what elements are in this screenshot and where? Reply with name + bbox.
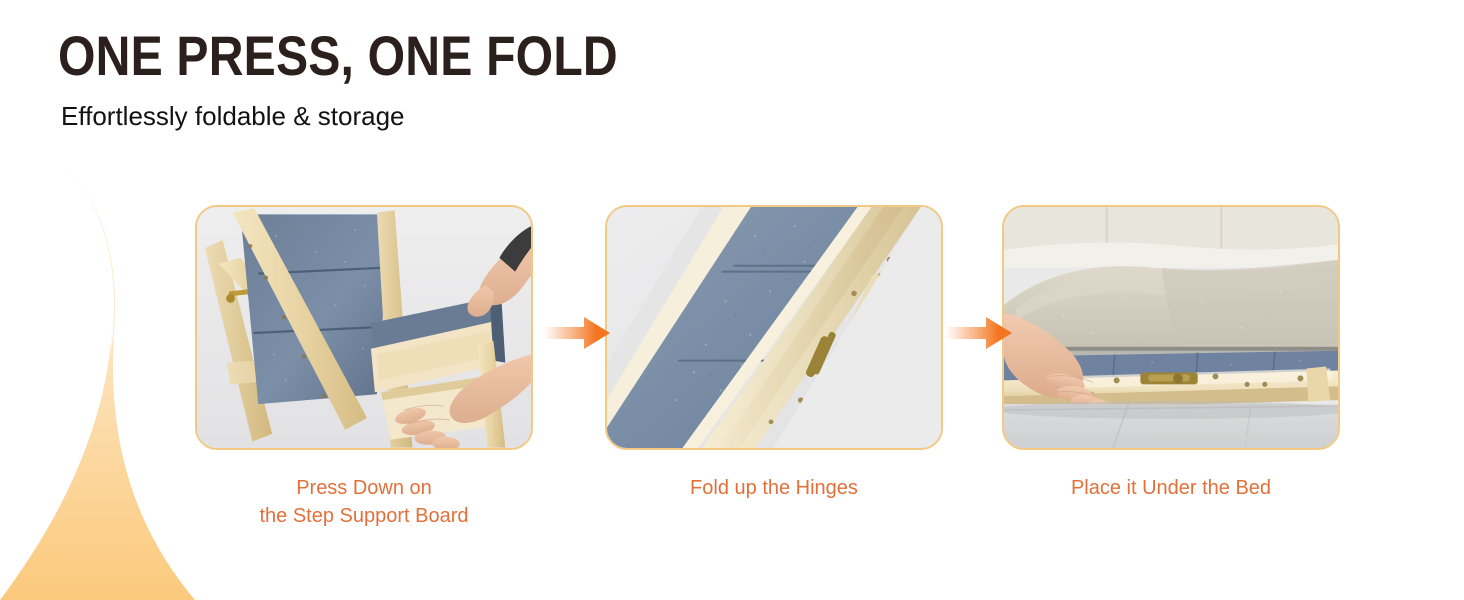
step-3-caption: Place it Under the Bed [1002, 474, 1340, 502]
step-2: Fold up the Hinges [605, 205, 943, 502]
step-2-caption: Fold up the Hinges [605, 474, 943, 502]
heading-block: ONE PRESS, ONE FOLD Effortlessly foldabl… [58, 26, 709, 132]
step-2-photo [605, 205, 943, 450]
arrow-step-2-to-3-icon [946, 313, 1012, 353]
step-1-caption: Press Down on the Step Support Board [195, 474, 533, 530]
step-3-caption-line-1: Place it Under the Bed [1002, 474, 1340, 502]
steps-row: Press Down on the Step Support Board [0, 205, 1464, 535]
page-title: ONE PRESS, ONE FOLD [58, 26, 618, 86]
step-3-photo [1002, 205, 1340, 450]
step-1-caption-line-1: Press Down on [195, 474, 533, 502]
step-2-caption-line-1: Fold up the Hinges [605, 474, 943, 502]
infographic-canvas: ONE PRESS, ONE FOLD Effortlessly foldabl… [0, 0, 1464, 600]
step-1-photo [195, 205, 533, 450]
step-1-caption-line-2: the Step Support Board [195, 502, 533, 530]
step-1: Press Down on the Step Support Board [195, 205, 533, 530]
step-3: Place it Under the Bed [1002, 205, 1340, 502]
arrow-step-1-to-2-icon [544, 313, 610, 353]
page-subtitle: Effortlessly foldable & storage [61, 100, 709, 132]
